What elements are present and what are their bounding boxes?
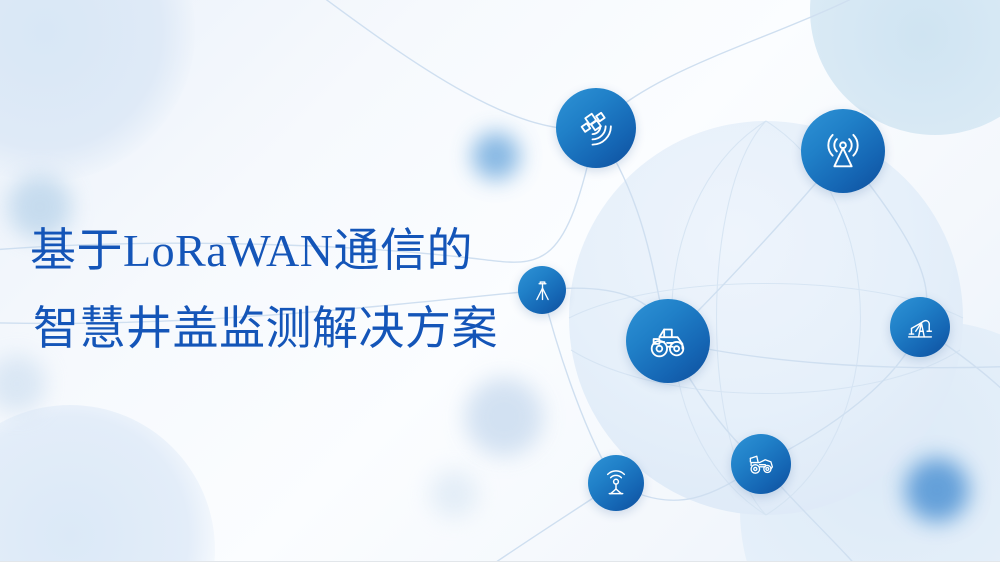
node-harvester[interactable] [731, 434, 791, 494]
accent-dot [472, 132, 520, 180]
node-oil-pumpjack[interactable] [890, 297, 950, 357]
slide-title: 基于LoRaWAN通信的 智慧井盖监测解决方案 [30, 228, 550, 352]
top-left-blob [0, 0, 195, 182]
accent-dot [465, 378, 543, 456]
radio-tower-icon [820, 128, 866, 174]
title-line-2: 智慧井盖监测解决方案 [30, 306, 550, 352]
node-tractor[interactable] [626, 299, 710, 383]
tractor-icon [645, 318, 691, 364]
accent-dot [430, 470, 478, 518]
oil-pumpjack-icon [903, 310, 937, 344]
sensor-antenna-icon [600, 467, 632, 499]
slide-canvas: 基于LoRaWAN通信的 智慧井盖监测解决方案 [0, 0, 1000, 562]
satellite-dish-icon [575, 107, 617, 149]
node-satellite-dish[interactable] [556, 88, 636, 168]
harvester-icon [744, 447, 778, 481]
accent-dot [905, 458, 969, 522]
node-sensor-antenna[interactable] [588, 455, 644, 511]
bottom-left-blob [0, 405, 215, 562]
accent-dot [0, 355, 46, 413]
node-radio-tower[interactable] [801, 109, 885, 193]
title-line-1: 基于LoRaWAN通信的 [30, 228, 550, 274]
